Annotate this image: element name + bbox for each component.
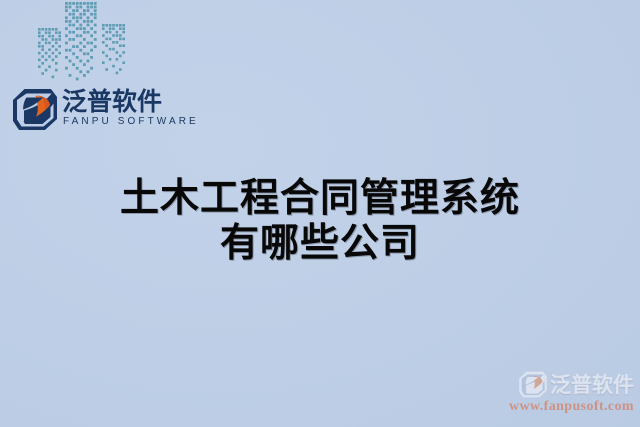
headline: 土木工程合同管理系统 有哪些公司 bbox=[0, 176, 640, 266]
pixel-buildings-skyline bbox=[34, 0, 130, 84]
headline-line-1: 土木工程合同管理系统 bbox=[0, 176, 640, 221]
promo-banner: 泛普软件 FANPU SOFTWARE 土木工程合同管理系统 有哪些公司 泛普软… bbox=[0, 0, 640, 427]
watermark-brand-name: 泛普软件 bbox=[550, 373, 634, 397]
watermark: 泛普软件 www.fanpusoft.com bbox=[494, 371, 634, 419]
brand-name-en: FANPU SOFTWARE bbox=[63, 116, 199, 128]
fanpu-brand-logo: 泛普软件 FANPU SOFTWARE bbox=[12, 88, 177, 134]
watermark-url: www.fanpusoft.com bbox=[494, 399, 634, 415]
brand-name-cn: 泛普软件 bbox=[62, 89, 199, 115]
fanpu-hexagon-swoosh-logo-watermark-icon bbox=[518, 371, 548, 398]
headline-line-2: 有哪些公司 bbox=[0, 221, 640, 266]
fanpu-hexagon-swoosh-logo-icon bbox=[12, 88, 58, 131]
